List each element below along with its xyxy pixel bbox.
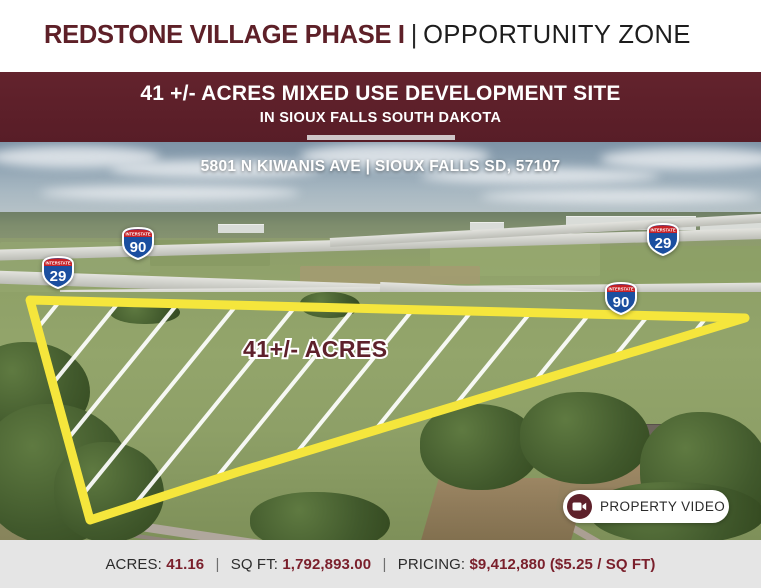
interstate-shield-90-right: INTERSTATE 90 xyxy=(603,281,639,315)
property-flyer: REDSTONE VILLAGE PHASE I|OPPORTUNITY ZON… xyxy=(0,0,761,588)
svg-text:INTERSTATE: INTERSTATE xyxy=(608,287,633,292)
tree-cluster xyxy=(300,292,360,318)
svg-text:29: 29 xyxy=(50,268,67,285)
tree-cluster xyxy=(520,392,650,484)
banner-divider xyxy=(307,135,455,140)
stat-key-pricing: PRICING: xyxy=(398,556,465,573)
interstate-shield-29-left: INTERSTATE 29 xyxy=(40,255,76,289)
property-video-label: PROPERTY VIDEO xyxy=(600,499,725,514)
svg-text:90: 90 xyxy=(613,294,630,311)
stats-line: ACRES: 41.16 | SQ FT: 1,792,893.00 | PRI… xyxy=(105,556,655,573)
banner-headline: 41 +/- ACRES MIXED USE DEVELOPMENT SITE xyxy=(0,82,761,105)
stats-bar: ACRES: 41.16 | SQ FT: 1,792,893.00 | PRI… xyxy=(0,540,761,588)
tree-cluster xyxy=(110,300,180,324)
parcel-acres-label: 41+/- ACRES xyxy=(243,336,388,363)
stat-value-sqft: 1,792,893.00 xyxy=(282,556,371,573)
brand-title: REDSTONE VILLAGE PHASE I xyxy=(44,21,405,49)
svg-text:INTERSTATE: INTERSTATE xyxy=(125,232,150,237)
banner-subhead: IN SIOUX FALLS SOUTH DAKOTA xyxy=(0,110,761,126)
address-overlay: 5801 N KIWANIS AVE | SIOUX FALLS SD, 571… xyxy=(0,158,761,176)
tree-cluster xyxy=(54,442,164,540)
interstate-shield-90-left: INTERSTATE 90 xyxy=(120,226,156,260)
svg-text:90: 90 xyxy=(130,239,147,256)
property-video-button[interactable]: PROPERTY VIDEO xyxy=(563,490,729,523)
title-subtitle: OPPORTUNITY ZONE xyxy=(423,21,691,49)
distant-building xyxy=(218,224,264,233)
svg-text:INTERSTATE: INTERSTATE xyxy=(45,261,70,266)
stat-value-pricing: $9,412,880 ($5.25 / SQ FT) xyxy=(469,556,655,573)
stat-separator: | xyxy=(375,556,393,573)
video-camera-icon xyxy=(567,494,592,519)
stat-separator: | xyxy=(209,556,227,573)
stat-key-sqft: SQ FT: xyxy=(231,556,278,573)
flyer-header: REDSTONE VILLAGE PHASE I|OPPORTUNITY ZON… xyxy=(0,0,761,72)
svg-text:29: 29 xyxy=(655,235,672,252)
page-title: REDSTONE VILLAGE PHASE I|OPPORTUNITY ZON… xyxy=(44,23,691,49)
svg-text:INTERSTATE: INTERSTATE xyxy=(650,228,675,233)
cloud-shape xyxy=(480,190,760,203)
stat-value-acres: 41.16 xyxy=(166,556,204,573)
interstate-shield-29-right: INTERSTATE 29 xyxy=(645,222,681,256)
cloud-shape xyxy=(40,186,300,200)
stat-key-acres: ACRES: xyxy=(105,556,161,573)
headline-banner: 41 +/- ACRES MIXED USE DEVELOPMENT SITE … xyxy=(0,72,761,142)
title-separator: | xyxy=(405,21,423,49)
